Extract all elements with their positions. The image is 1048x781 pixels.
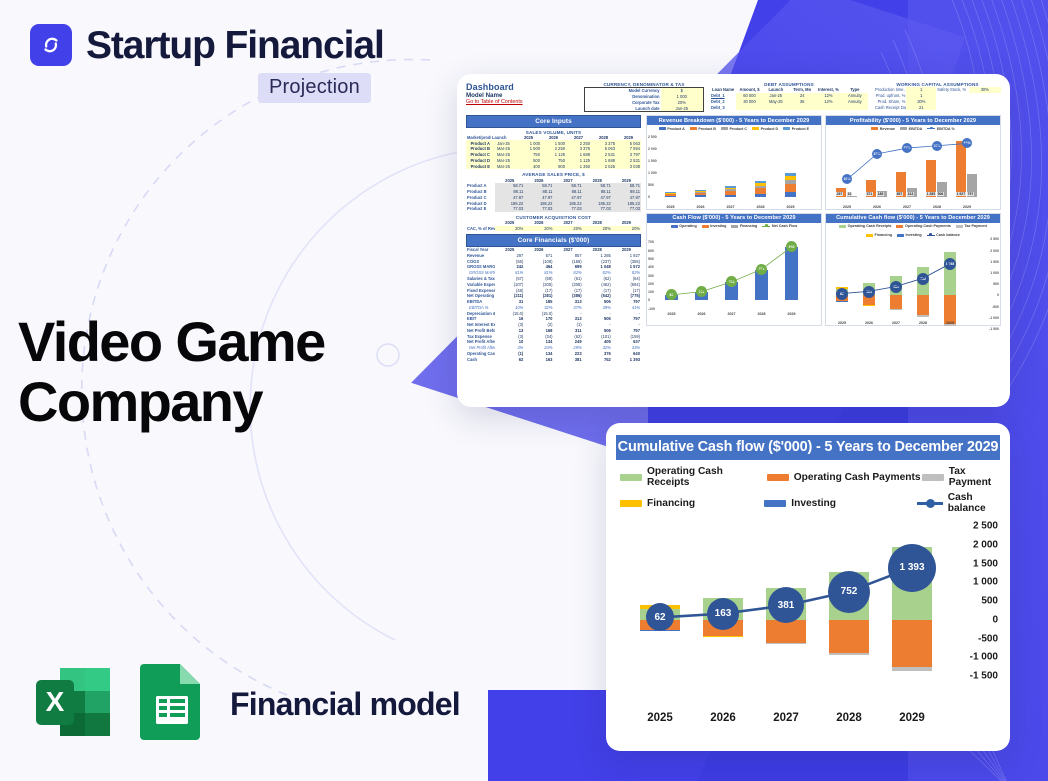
bar-segment bbox=[665, 193, 676, 194]
brand-logo: Startup Financial bbox=[30, 24, 384, 66]
legend-swatch bbox=[927, 128, 935, 129]
cash-balance-bubble: 381 bbox=[890, 281, 902, 293]
bar-segment bbox=[725, 189, 736, 191]
sv-value: 1 350 bbox=[566, 163, 591, 169]
cash-flow-title: Cash Flow ($'000) - 5 Years to December … bbox=[647, 214, 821, 223]
legend-label-investing: Investing bbox=[791, 498, 836, 509]
x-category-label: 2028 bbox=[913, 321, 933, 325]
debt-assumptions-block: DEBT ASSUMPTIONS Loan NameAmount, $Launc… bbox=[710, 82, 868, 110]
y-axis-tick: -500 bbox=[978, 633, 998, 644]
fin-row-label: Variable Expenses bbox=[466, 281, 495, 287]
table-row: Product E77.0377.0377.0377.0377.03 bbox=[466, 206, 641, 212]
legend-swatch-payments bbox=[767, 474, 789, 481]
debt-cell: Debt_3 bbox=[710, 104, 736, 110]
x-category-label: 2025 bbox=[661, 205, 680, 209]
wc-label: Prod. upfront, % bbox=[874, 93, 906, 99]
x-category-label: 2029 bbox=[953, 205, 981, 209]
legend-item: Operating Cash Receipts bbox=[839, 224, 891, 228]
cash-balance-bubble: 752 bbox=[917, 273, 929, 285]
y-tick-label: 0 bbox=[648, 195, 650, 199]
y-axis-tick: 1 000 bbox=[973, 577, 998, 588]
profitability-plot: 2973110%202557118532%202685731337%20271 … bbox=[826, 131, 1000, 209]
debt-header-cell: Amount, $ bbox=[736, 87, 762, 93]
legend-label-tax: Tax Payment bbox=[949, 466, 996, 488]
cumulative-cash-flow-title: Cumulative Cash flow ($'000) - 5 Years t… bbox=[826, 214, 1000, 223]
ap-value: 77.03 bbox=[524, 206, 553, 212]
bar-segment bbox=[665, 196, 676, 197]
y-axis-tick: 500 bbox=[981, 596, 998, 607]
ebitda-pct-bubble: 41% bbox=[962, 138, 972, 148]
big-chart-title: Cumulative Cash flow ($'000) - 5 Years t… bbox=[616, 435, 1000, 460]
legend-operating-cash-receipts: Operating Cash Receipts bbox=[620, 466, 767, 488]
bar-segment bbox=[665, 193, 676, 194]
fin-row-label: Depreciation & Amortization bbox=[466, 310, 495, 316]
currency-table: Model Currency$Denomination1 000Corporat… bbox=[584, 87, 704, 112]
legend-swatch bbox=[702, 225, 709, 228]
net-cash-flow-bubble: 101 bbox=[696, 286, 707, 297]
legend-item: Operating Cash Payments bbox=[896, 224, 950, 228]
y-tick-label: 100 bbox=[648, 290, 654, 294]
bar-segment bbox=[725, 186, 736, 187]
x-axis-tick: 2026 bbox=[693, 712, 753, 724]
fin-value: 1 393 bbox=[612, 356, 641, 362]
legend-label: Tax Payment bbox=[964, 224, 986, 228]
debt-header-cell: Interest, % bbox=[815, 87, 841, 93]
x-category-label: 2026 bbox=[863, 205, 891, 209]
fin-value: 752 bbox=[583, 356, 612, 362]
legend-label: Operating Cash Payments bbox=[905, 224, 951, 228]
ap-value: 77.03 bbox=[553, 206, 582, 212]
wc-value: 21 bbox=[906, 104, 936, 110]
y-tick-label: 600 bbox=[648, 249, 654, 253]
wc-label: Prod. Share, % bbox=[874, 99, 906, 105]
financial-model-label: Financial model bbox=[230, 686, 460, 723]
legend-swatch-cash-balance bbox=[917, 502, 943, 505]
cash-balance-data-bubble: 752 bbox=[828, 571, 870, 613]
cac-table: 20252026202720282029 CAC, % of Revenue20… bbox=[466, 220, 641, 232]
currency-row: Launch dateJan-25 bbox=[585, 105, 704, 111]
bar-segment bbox=[755, 188, 766, 193]
legend-operating-cash-payments: Operating Cash Payments bbox=[767, 472, 922, 483]
cash-balance-data-bubble: 62 bbox=[646, 603, 674, 631]
bar-segment bbox=[725, 188, 736, 190]
big-chart-plot: 2 5002 0001 5001 0005000-500-1 000-1 500… bbox=[616, 520, 1000, 728]
x-category-label: 2027 bbox=[721, 312, 742, 316]
bar-segment bbox=[695, 195, 706, 197]
debt-cell bbox=[789, 104, 815, 110]
debt-cell bbox=[763, 104, 789, 110]
fin-row-label: Net Interest Expense bbox=[466, 322, 495, 328]
fin-row-label: GROSS MARGIN bbox=[466, 264, 495, 270]
cumulative-cash-flow-legend: Operating Cash ReceiptsOperating Cash Pa… bbox=[826, 223, 1000, 238]
x-category-label: 2028 bbox=[751, 312, 772, 316]
working-capital-block: WORKING CAPITAL ASSUMPTIONS Production t… bbox=[874, 82, 1001, 110]
y-tick-label: -1 500 bbox=[989, 327, 999, 331]
logo-subtitle: Projection bbox=[258, 73, 371, 103]
legend-financing: Financing bbox=[620, 498, 764, 509]
cash-balance-line bbox=[826, 237, 1000, 325]
cash-balance-data-bubble: 381 bbox=[768, 587, 804, 623]
x-category-label: 2025 bbox=[661, 312, 682, 316]
cash-balance-data-bubble: 1 393 bbox=[888, 544, 936, 592]
legend-label-cash-balance: Cash balance bbox=[948, 492, 996, 514]
bar-segment bbox=[695, 192, 706, 193]
currency-label: Launch date bbox=[585, 105, 661, 111]
bar-segment bbox=[725, 195, 736, 197]
bar-segment-3 bbox=[703, 636, 743, 637]
fin-row-label: Net Profit After Tax bbox=[466, 339, 495, 345]
y-axis-tick: 0 bbox=[992, 614, 998, 625]
bar-segment bbox=[863, 305, 875, 306]
wc-row: Production time, Mo1Safety Stock, %30% bbox=[874, 87, 1001, 93]
bar-segment-1 bbox=[892, 620, 932, 668]
revenue-data-label: 571 bbox=[866, 192, 873, 196]
cash-flow-plot: 7006005004003002001000-10062202510120262… bbox=[647, 228, 821, 316]
y-tick-label: 2 500 bbox=[648, 135, 657, 139]
sv-launch: Mar-25 bbox=[491, 163, 516, 169]
legend-swatch bbox=[731, 225, 738, 228]
wc-extra-label: Safety Stock, % bbox=[936, 87, 968, 93]
fin-row-label: Cash bbox=[466, 356, 495, 362]
revenue-data-label: 1 927 bbox=[956, 192, 966, 196]
x-category-label: 2027 bbox=[886, 321, 906, 325]
cac-row-label: CAC, % of Revenue bbox=[466, 226, 495, 232]
bar-segment bbox=[785, 176, 796, 180]
ebitda-data-label: 185 bbox=[877, 192, 884, 196]
fin-row-label: GROSS MARGIN % bbox=[466, 270, 495, 276]
table-row: Cash621633817521 393 bbox=[466, 356, 641, 362]
bar-segment bbox=[755, 181, 766, 183]
bar-segment bbox=[755, 183, 766, 186]
bar-segment bbox=[755, 194, 766, 197]
revenue-data-label: 857 bbox=[896, 192, 903, 196]
legend-swatch-financing bbox=[620, 500, 642, 507]
page-title: Video Game Company bbox=[18, 312, 418, 433]
dashboard-charts-column: Revenue Breakdown ($'000) - 5 Years to D… bbox=[646, 115, 1001, 362]
legend-swatch bbox=[690, 127, 697, 130]
wc-pad bbox=[936, 104, 968, 110]
x-axis-tick: 2029 bbox=[882, 712, 942, 724]
legend-swatch bbox=[752, 127, 759, 130]
fin-value: 163 bbox=[524, 356, 553, 362]
legend-label-financing: Financing bbox=[647, 498, 695, 509]
legend-swatch bbox=[762, 226, 770, 227]
legend-swatch bbox=[783, 127, 790, 130]
chart-cash-flow[interactable]: Cash Flow ($'000) - 5 Years to December … bbox=[646, 213, 822, 327]
wc-label: Cash Receipt Days bbox=[874, 104, 906, 110]
sv-value: 2 025 bbox=[591, 163, 616, 169]
debt-header-cell: Loan Name bbox=[710, 87, 736, 93]
sv-product-name: Product B bbox=[466, 146, 491, 152]
cash-balance-bubble: 163 bbox=[863, 286, 875, 298]
debt-cell bbox=[842, 104, 868, 110]
revenue-breakdown-title: Revenue Breakdown ($'000) - 5 Years to D… bbox=[647, 116, 821, 125]
debt-table: Loan NameAmount, $LaunchTerm, MoInterest… bbox=[710, 87, 868, 110]
fin-value: 62 bbox=[495, 356, 524, 362]
x-axis-tick: 2028 bbox=[819, 712, 879, 724]
bar-segment bbox=[725, 191, 736, 194]
ebitda-data-label: 31 bbox=[847, 192, 852, 196]
legend-swatch bbox=[956, 225, 963, 228]
legend-item: Tax Payment bbox=[956, 224, 987, 228]
x-category-label: 2026 bbox=[691, 312, 712, 316]
bar-segment bbox=[785, 192, 796, 197]
chart-profitability[interactable]: Profitability ($'000) - 5 Years to Decem… bbox=[825, 115, 1001, 210]
y-axis-tick: 2 500 bbox=[973, 521, 998, 532]
core-financials-band: Core Financials ($'000) bbox=[466, 234, 641, 247]
legend-label: Operating Cash Receipts bbox=[848, 224, 892, 228]
cac-value: 20% bbox=[612, 226, 641, 232]
legend-investing: Investing bbox=[764, 498, 916, 509]
x-category-label: 2029 bbox=[781, 312, 802, 316]
ebitda-data-label: 313 bbox=[907, 192, 914, 196]
table-row: Product EMar-254009001 3502 0253 038 bbox=[466, 163, 641, 169]
sv-product-name: Product E bbox=[466, 163, 491, 169]
fin-row-label: Net Profit After Tax % bbox=[466, 345, 495, 351]
bar-segment bbox=[695, 190, 706, 191]
chart-revenue-breakdown[interactable]: Revenue Breakdown ($'000) - 5 Years to D… bbox=[646, 115, 822, 210]
ebitda-pct-line bbox=[826, 131, 1000, 209]
dashboard-titles: Dashboard Model Name Go to Table of Cont… bbox=[466, 82, 578, 105]
y-tick-label: 1 500 bbox=[648, 159, 657, 163]
x-category-label: 2029 bbox=[781, 205, 800, 209]
y-tick-label: 0 bbox=[997, 293, 999, 297]
y-tick-label: 2 500 bbox=[990, 237, 999, 241]
dashboard-preview-card[interactable]: Dashboard Model Name Go to Table of Cont… bbox=[457, 74, 1010, 407]
legend-swatch bbox=[659, 127, 666, 130]
x-category-label: 2029 bbox=[940, 321, 960, 325]
cumulative-cash-flow-plot: 2 5002 0001 5001 0005000-500-1 000-1 500… bbox=[826, 237, 1000, 325]
x-category-label: 2028 bbox=[923, 205, 951, 209]
bar-segment bbox=[890, 309, 902, 310]
y-tick-label: -100 bbox=[648, 307, 655, 311]
fin-row-label: Fixed Expenses bbox=[466, 287, 495, 293]
legend-swatch bbox=[671, 225, 678, 228]
y-tick-label: 400 bbox=[648, 265, 654, 269]
cash-balance-data-bubble: 163 bbox=[707, 598, 739, 630]
y-tick-label: 1 000 bbox=[648, 171, 657, 175]
bar-segment bbox=[917, 315, 929, 316]
format-badges: X Financial model bbox=[30, 660, 460, 749]
bar-segment-2 bbox=[766, 643, 806, 644]
y-tick-label: -500 bbox=[992, 305, 999, 309]
bar-segment bbox=[944, 295, 956, 323]
y-tick-label: 200 bbox=[648, 282, 654, 286]
debt-cell bbox=[736, 104, 762, 110]
bar-segment bbox=[785, 184, 796, 192]
sv-value: 900 bbox=[541, 163, 566, 169]
core-financials-table: Fiscal Year20252026202720282029 Revenue2… bbox=[466, 247, 641, 362]
legend-tax-payment: Tax Payment bbox=[922, 466, 996, 488]
google-sheets-icon bbox=[136, 660, 208, 749]
fin-row-label: Net Profit Before Tax bbox=[466, 328, 495, 334]
y-axis-tick: 1 500 bbox=[973, 558, 998, 569]
sales-volume-table: Market/productLaunch20252026202720282029… bbox=[466, 135, 641, 170]
legend-swatch bbox=[721, 127, 728, 130]
y-tick-label: -1 000 bbox=[989, 316, 999, 320]
operating-bar bbox=[785, 247, 798, 300]
table-of-contents-link[interactable]: Go to Table of Contents bbox=[466, 99, 578, 105]
cac-value: 20% bbox=[583, 226, 612, 232]
ebitda-pct-bubble: 10% bbox=[842, 174, 852, 184]
x-category-label: 2027 bbox=[893, 205, 921, 209]
sv-col0: Market/product bbox=[466, 135, 491, 141]
cash-balance-bubble: 62 bbox=[836, 288, 848, 300]
core-inputs-band: Core Inputs bbox=[466, 115, 641, 128]
bar-segment-2 bbox=[829, 653, 869, 655]
fin-value: 381 bbox=[553, 356, 582, 362]
legend-swatch bbox=[896, 225, 903, 228]
legend-cash-balance: Cash balance bbox=[917, 492, 996, 514]
ap-product-name: Product E bbox=[466, 206, 495, 212]
table-row: CAC, % of Revenue20%20%20%20%20% bbox=[466, 226, 641, 232]
cac-value: 20% bbox=[553, 226, 582, 232]
y-tick-label: 300 bbox=[648, 274, 654, 278]
revenue-data-label: 297 bbox=[836, 192, 843, 196]
legend-swatch bbox=[900, 127, 907, 130]
bar-segment bbox=[665, 194, 676, 196]
ebitda-data-label: 506 bbox=[937, 192, 944, 196]
bar-segment bbox=[755, 186, 766, 189]
bar-segment bbox=[695, 193, 706, 195]
svg-text:X: X bbox=[46, 686, 65, 717]
x-category-label: 2025 bbox=[833, 205, 861, 209]
sv-value: 400 bbox=[516, 163, 541, 169]
chart-cumulative-cash-flow[interactable]: Cumulative Cash flow ($'000) - 5 Years t… bbox=[825, 213, 1001, 327]
fin-row-label: Tax Expense bbox=[466, 333, 495, 339]
wc-row: Cash Receipt Days21 bbox=[874, 104, 1001, 110]
cumulative-cash-flow-card[interactable]: Cumulative Cash flow ($'000) - 5 Years t… bbox=[606, 423, 1010, 751]
microsoft-excel-icon: X bbox=[30, 660, 114, 749]
x-category-label: 2025 bbox=[832, 321, 852, 325]
y-tick-label: 0 bbox=[648, 298, 650, 302]
ebitda-pct-bubble: 32% bbox=[872, 149, 882, 159]
model-name-label: Model Name bbox=[466, 92, 578, 99]
x-axis-tick: 2025 bbox=[630, 712, 690, 724]
y-tick-label: 2 000 bbox=[648, 147, 657, 151]
revenue-data-label: 1 285 bbox=[926, 192, 936, 196]
legend-swatch bbox=[897, 234, 904, 237]
bar-segment bbox=[890, 295, 902, 309]
legend-swatch-tax bbox=[922, 474, 944, 481]
y-tick-label: 2 000 bbox=[990, 249, 999, 253]
legend-swatch bbox=[927, 235, 935, 236]
ebitda-pct-bubble: 39% bbox=[932, 141, 942, 151]
currency-assumptions-block: CURRENCY, DENOMINATOR & TAX Model Curren… bbox=[584, 82, 704, 112]
ebitda-bar bbox=[847, 196, 857, 197]
bar-segment-2 bbox=[892, 667, 932, 671]
poster-canvas: Startup Financial Projection Video Game … bbox=[0, 0, 1048, 781]
bar-segment bbox=[695, 191, 706, 192]
big-chart-legend: Operating Cash Receipts Operating Cash P… bbox=[616, 460, 1000, 514]
bar-segment bbox=[917, 295, 929, 315]
cac-value: 20% bbox=[524, 226, 553, 232]
legend-swatch bbox=[866, 234, 873, 237]
profitability-title: Profitability ($'000) - 5 Years to Decem… bbox=[826, 116, 1000, 125]
ap-value: 77.03 bbox=[495, 206, 524, 212]
startup-financial-logo-icon bbox=[30, 24, 72, 66]
wc-pad bbox=[969, 104, 1001, 110]
legend-label-receipts: Operating Cash Receipts bbox=[647, 466, 767, 488]
x-category-label: 2026 bbox=[859, 321, 879, 325]
ebitda-pct-bubble: 37% bbox=[902, 143, 912, 153]
fin-row-label: Salaries & Taxes bbox=[466, 276, 495, 282]
dashboard-left-column: Core Inputs SALES VOLUME, UNITS Market/p… bbox=[466, 115, 641, 362]
legend-swatch bbox=[839, 225, 846, 228]
bar-segment bbox=[785, 173, 796, 176]
bar-segment bbox=[785, 180, 796, 184]
x-category-label: 2026 bbox=[691, 205, 710, 209]
sv-product-name: Product C bbox=[466, 152, 491, 158]
debt-row: Debt_3 bbox=[710, 104, 868, 110]
net-cash-flow-bubble: 371 bbox=[756, 264, 767, 275]
legend-swatch-investing bbox=[764, 500, 786, 507]
wc-table: Production time, Mo1Safety Stock, %30%Pr… bbox=[874, 87, 1001, 110]
x-axis-tick: 2027 bbox=[756, 712, 816, 724]
dashboard-heading: Dashboard bbox=[466, 82, 578, 92]
currency-value: Jan-25 bbox=[661, 105, 704, 111]
x-category-label: 2028 bbox=[751, 205, 770, 209]
legend-swatch-receipts bbox=[620, 474, 642, 481]
y-tick-label: 1 500 bbox=[990, 260, 999, 264]
fin-row-label: Net Operating Expenses bbox=[466, 293, 495, 299]
logo-wordmark: Startup Financial bbox=[86, 26, 384, 65]
ap-value: 77.03 bbox=[583, 206, 612, 212]
legend-swatch bbox=[871, 127, 878, 130]
x-category-label: 2027 bbox=[721, 205, 740, 209]
revenue-bar bbox=[956, 141, 966, 197]
y-axis-tick: 2 000 bbox=[973, 539, 998, 550]
y-tick-label: 700 bbox=[648, 240, 654, 244]
debt-cell bbox=[815, 104, 841, 110]
ebitda-data-label: 797 bbox=[967, 192, 974, 196]
sv-product-name: Product D bbox=[466, 158, 491, 164]
avg-price-table: 20252026202720282029 Product A58.7158.71… bbox=[466, 177, 641, 212]
revenue-breakdown-plot: 2 5002 0001 5001 00050002025202620272028… bbox=[647, 131, 821, 209]
fin-row-label: Operating Cash Flows bbox=[466, 351, 495, 357]
y-tick-label: 500 bbox=[993, 282, 999, 286]
cac-value: 20% bbox=[495, 226, 524, 232]
wc-label: Production time, Mo bbox=[874, 87, 906, 93]
legend-label-payments: Operating Cash Payments bbox=[794, 472, 921, 483]
bar-segment-1 bbox=[829, 620, 869, 653]
ap-value: 77.03 bbox=[612, 206, 641, 212]
sv-value: 3 038 bbox=[616, 163, 641, 169]
y-tick-label: 500 bbox=[648, 257, 654, 261]
y-tick-label: 500 bbox=[648, 183, 654, 187]
y-axis-tick: -1 500 bbox=[970, 671, 998, 682]
y-axis-tick: -1 000 bbox=[970, 652, 998, 663]
y-tick-label: 1 000 bbox=[990, 271, 999, 275]
